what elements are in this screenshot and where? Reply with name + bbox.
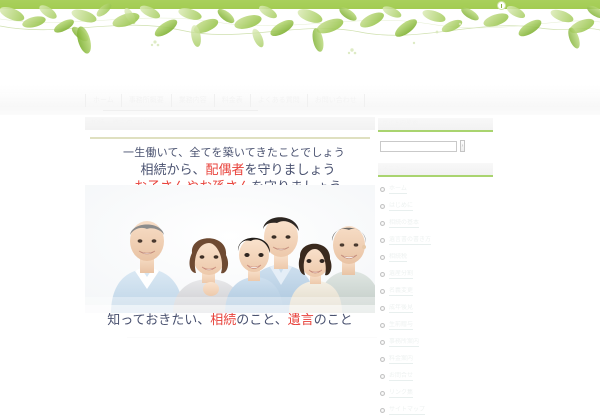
caption-part-3: のこと — [314, 312, 353, 327]
search-input[interactable] — [380, 141, 457, 152]
list-item[interactable]: はじめに — [380, 198, 500, 215]
list-item[interactable]: 遺産分割 — [380, 266, 500, 283]
list-item-label: 事務所案内 — [389, 338, 419, 347]
list-item[interactable]: 相続税 — [380, 249, 500, 266]
menu-section-heading: メニュー — [378, 163, 493, 175]
hero-line-1: 一生働いて、全てを築いてきたことでしょう — [93, 145, 375, 161]
primary-navigation: ホーム 事務所概要 業務内容 料金表 よくある質問 お問い合わせ — [0, 93, 600, 115]
bullet-icon — [380, 289, 385, 294]
nav-item-about[interactable]: 事務所概要 — [122, 94, 172, 107]
caption-part-1: 知っておきたい、 — [107, 312, 210, 327]
nav-item-pricing[interactable]: 料金表 — [215, 94, 251, 107]
nav-divider — [103, 110, 258, 111]
nav-item-contact[interactable]: お問い合わせ — [308, 94, 365, 107]
family-photo — [85, 185, 375, 313]
sidebar: サイト内検索 › メニュー ホーム はじめに — [378, 115, 500, 400]
bullet-icon — [380, 340, 385, 345]
list-item-label: 料金案内 — [389, 355, 413, 364]
main-footer-divider — [127, 337, 377, 338]
bullet-icon — [380, 221, 385, 226]
list-item-label: 遺産分割 — [389, 270, 413, 279]
hero-line-2-suffix: を守りましょう — [245, 162, 336, 177]
list-item-label: 成年後見 — [389, 304, 413, 313]
list-item-label: サイトマップ — [389, 406, 425, 415]
site-header — [0, 0, 600, 100]
nav-items: ホーム 事務所概要 業務内容 料金表 よくある質問 お問い合わせ — [85, 93, 365, 115]
bullet-icon — [380, 204, 385, 209]
hero-line-2-emphasis: 配偶者 — [205, 162, 244, 177]
bullet-icon — [380, 374, 385, 379]
search-submit-button[interactable]: › — [460, 140, 465, 152]
bullet-icon — [380, 357, 385, 362]
list-item-label: 生前贈与 — [389, 321, 413, 330]
bullet-icon — [380, 187, 385, 192]
list-item[interactable]: 相続の基本 — [380, 215, 500, 232]
list-item[interactable]: 事務所案内 — [380, 334, 500, 351]
search-section-heading: サイト内検索 — [378, 118, 493, 130]
bullet-icon — [380, 391, 385, 396]
leaf-branch-decoration — [0, 0, 600, 66]
bullet-icon — [380, 323, 385, 328]
list-item-label: ホーム — [389, 185, 407, 194]
info-badge-icon[interactable] — [497, 1, 506, 10]
main-heading-underline — [90, 137, 370, 139]
sidebar-menu-block: メニュー ホーム はじめに 相続の基本 遺言書の書き方 — [378, 163, 500, 177]
bullet-icon — [380, 255, 385, 260]
list-item-label: はじめに — [389, 202, 413, 211]
menu-heading-underline — [378, 175, 493, 177]
search-heading-underline — [378, 130, 493, 132]
list-item-label: リンク集 — [389, 389, 413, 398]
hero-line-2: 相続から、配偶者を守りましょう — [101, 161, 375, 178]
list-item-label: 相続税 — [389, 253, 407, 262]
bullet-icon — [380, 306, 385, 311]
list-item[interactable]: 遺言書の書き方 — [380, 232, 500, 249]
list-item-label: 名義変更 — [389, 287, 413, 296]
main-section-heading-label: 相続・遺言のご相談 — [91, 119, 154, 128]
nav-item-services[interactable]: 業務内容 — [172, 94, 215, 107]
main-section-heading: 相続・遺言のご相談 — [85, 117, 375, 130]
info-badge-mark — [501, 4, 502, 8]
list-item[interactable]: ホーム — [380, 181, 500, 198]
list-item-label: お問合せ — [389, 372, 413, 381]
page-content: 相続・遺言のご相談 一生働いて、全てを築いてきたことでしょう 相続から、配偶者を… — [0, 115, 600, 400]
list-item[interactable]: 名義変更 — [380, 283, 500, 300]
bullet-icon — [380, 408, 385, 413]
caption-emphasis-2: 遺言 — [288, 312, 314, 327]
sidebar-search-block: サイト内検索 › — [378, 118, 500, 132]
caption-part-2: のこと、 — [236, 312, 287, 327]
list-item[interactable]: リンク集 — [380, 385, 500, 402]
sidebar-menu-list: ホーム はじめに 相続の基本 遺言書の書き方 相続税 — [380, 181, 500, 419]
bottom-caption: 知っておきたい、相続のこと、遺言のこと — [85, 311, 375, 329]
list-item[interactable]: お問合せ — [380, 368, 500, 385]
list-item[interactable]: サイトマップ — [380, 402, 500, 419]
list-item[interactable]: 成年後見 — [380, 300, 500, 317]
list-item[interactable]: 料金案内 — [380, 351, 500, 368]
search-row: › — [380, 140, 465, 152]
nav-item-faq[interactable]: よくある質問 — [251, 94, 308, 107]
hero-line-2-prefix: 相続から、 — [140, 162, 205, 177]
search-section-heading-label: サイト内検索 — [382, 120, 418, 128]
list-item-label: 相続の基本 — [389, 219, 419, 228]
caption-emphasis-1: 相続 — [210, 312, 236, 327]
list-item[interactable]: 生前贈与 — [380, 317, 500, 334]
list-item-label: 遺言書の書き方 — [389, 236, 431, 245]
menu-section-heading-label: メニュー — [382, 165, 406, 173]
bullet-icon — [380, 272, 385, 277]
nav-item-home[interactable]: ホーム — [85, 94, 122, 107]
bullet-icon — [380, 238, 385, 243]
